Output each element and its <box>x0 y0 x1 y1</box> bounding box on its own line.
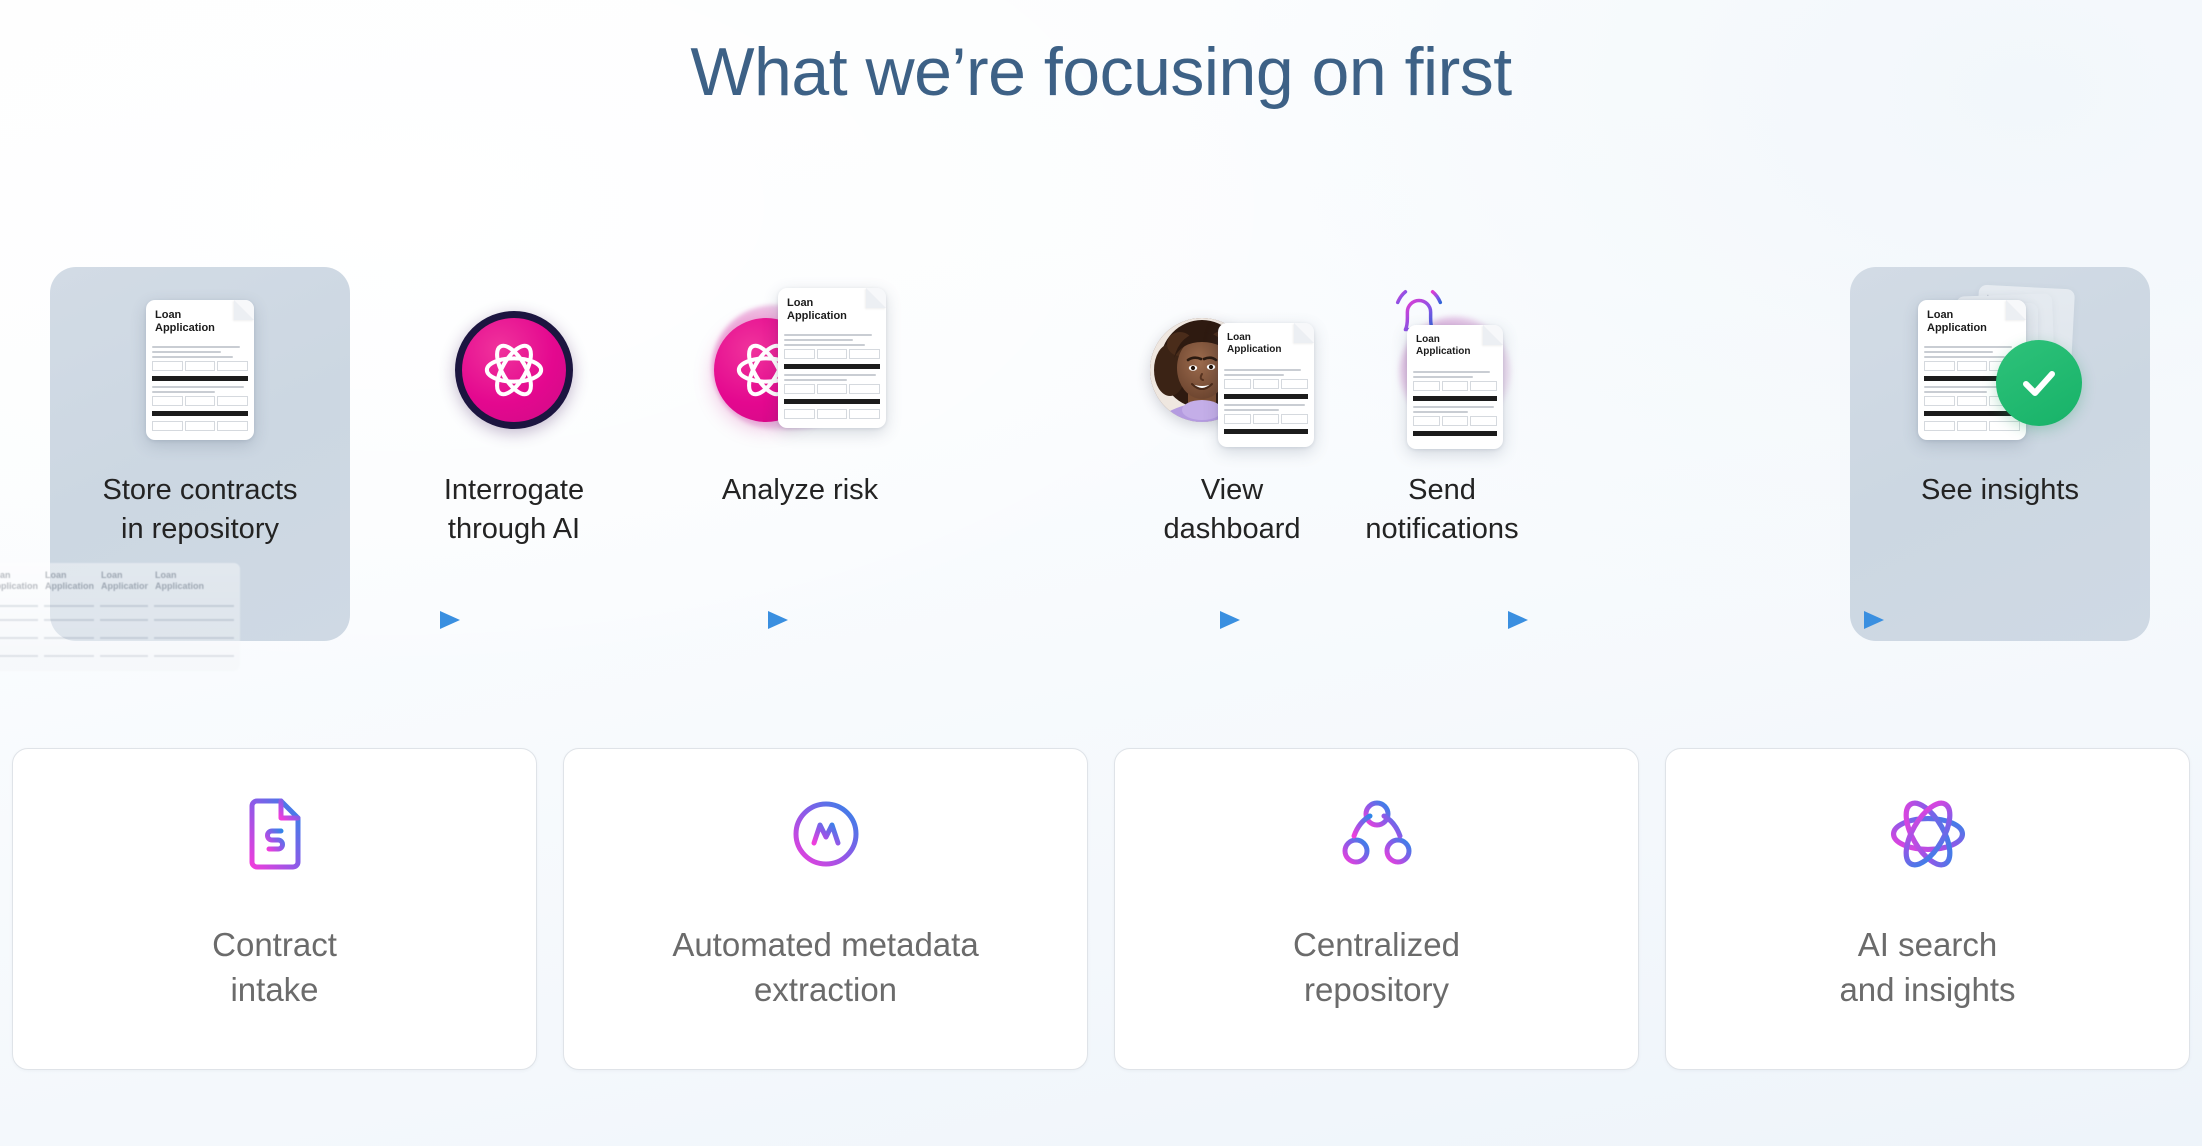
feature-card-label-line1: Contract <box>212 926 337 963</box>
document-body <box>152 346 248 435</box>
process-flow: LoanApplication LoanApplication LoanAppl… <box>0 255 2202 675</box>
feature-card-label-line2: and insights <box>1839 971 2015 1008</box>
feature-card-automated-metadata-extraction[interactable]: Automated metadata extraction <box>563 748 1088 1070</box>
green-check-icon <box>1996 340 2082 426</box>
feature-card-label-line2: repository <box>1304 971 1449 1008</box>
flow-step-art: Loan Application <box>50 255 350 485</box>
flow-step-label: Store contracts in repository <box>50 471 350 548</box>
flow-step-art: Loan Application <box>1292 255 1592 485</box>
flow-step-label-line2: dashboard <box>1163 513 1300 545</box>
flow-arrow-5 <box>1658 605 1888 635</box>
network-nodes-icon <box>1340 795 1414 873</box>
loan-application-document: Loan Application <box>146 300 254 440</box>
document-title-line1: Loan <box>1227 332 1251 343</box>
flow-arrow-4 <box>1372 605 1532 635</box>
flow-step-art: Loan Application <box>650 255 950 485</box>
feature-card-label-line1: AI search <box>1858 926 1997 963</box>
flow-step-label: Interrogate through AI <box>364 471 664 548</box>
feature-card-label: Automated metadata extraction <box>672 923 978 1012</box>
document-dollar-icon <box>244 795 306 873</box>
flow-step-label: See insights <box>1850 471 2150 510</box>
feature-card-label: AI search and insights <box>1839 923 2015 1012</box>
feature-card-ai-search-and-insights[interactable]: AI search and insights <box>1665 748 2190 1070</box>
document-title-line2: Application <box>1927 322 1987 334</box>
flow-arrow-3 <box>1010 605 1244 635</box>
ghost-doc-label: LoanApplication <box>0 570 49 592</box>
feature-card-centralized-repository[interactable]: Centralized repository <box>1114 748 1639 1070</box>
feature-cards: Contract intake Automated metadata extra… <box>12 748 2190 1070</box>
document-title-line1: Loan <box>155 309 181 321</box>
flow-step-label-line1: View <box>1201 474 1263 506</box>
flow-step-label-line1: Send <box>1408 474 1476 506</box>
flow-step-art <box>364 255 664 485</box>
atom-icon <box>1890 795 1966 873</box>
document-body <box>784 334 880 423</box>
document-title-line2: Application <box>1416 346 1470 357</box>
feature-card-contract-intake[interactable]: Contract intake <box>12 748 537 1070</box>
document-title-line1: Loan <box>1927 309 1953 321</box>
loan-application-document: Loan Application <box>1407 325 1503 449</box>
flow-step-label-line2: notifications <box>1365 513 1518 545</box>
flow-step-label-line2: through AI <box>448 513 580 545</box>
document-title-line2: Application <box>155 322 215 334</box>
flow-step-label-line1: Store contracts <box>102 474 297 506</box>
document-title-line1: Loan <box>787 297 813 309</box>
flow-arrow-2 <box>562 605 792 635</box>
m-circle-icon <box>790 795 862 873</box>
flow-step-label-line1: See insights <box>1921 474 2079 506</box>
feature-card-label: Contract intake <box>212 923 337 1012</box>
flow-step-see-insights[interactable]: Loan Loan Loan Loan Application <box>1850 255 2150 675</box>
atom-icon <box>455 311 573 429</box>
flow-step-art: Loan Loan Loan Loan Application <box>1850 255 2150 485</box>
document-title-line2: Application <box>787 310 847 322</box>
flow-step-label: Analyze risk <box>650 471 950 510</box>
loan-application-document: Loan Application <box>778 288 886 428</box>
document-title-line2: Application <box>1227 344 1281 355</box>
document-body <box>1413 371 1497 444</box>
flow-step-label-line1: Interrogate <box>444 474 584 506</box>
flow-step-label-line1: Analyze risk <box>722 474 878 506</box>
feature-card-label-line2: intake <box>230 971 318 1008</box>
feature-card-label: Centralized repository <box>1293 923 1460 1012</box>
page-title: What we’re focusing on first <box>0 30 2202 115</box>
feature-card-label-line1: Centralized <box>1293 926 1460 963</box>
feature-card-label-line2: extraction <box>754 971 897 1008</box>
feature-card-label-line1: Automated metadata <box>672 926 978 963</box>
flow-arrow-1 <box>252 605 464 635</box>
flow-step-label: Send notifications <box>1292 471 1592 548</box>
flow-step-label-line2: in repository <box>121 513 279 545</box>
document-title-line1: Loan <box>1416 334 1440 345</box>
